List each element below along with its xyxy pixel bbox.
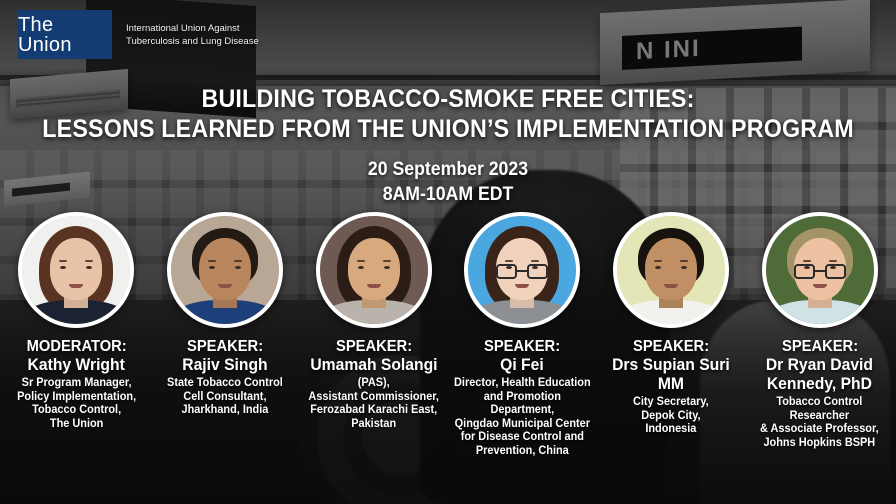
portrait-eye-right: [384, 266, 390, 269]
speaker-card: SPEAKER: Drs Supian Suri MM City Secreta…: [597, 212, 746, 458]
portrait-brow-right: [680, 260, 688, 262]
speaker-name: Drs Supian Suri MM: [612, 356, 730, 394]
speaker-name: Rajiv Singh: [182, 356, 267, 375]
speaker-role: SPEAKER:: [633, 338, 709, 356]
speaker-portrait: [762, 212, 878, 328]
portrait-photo: [320, 216, 428, 324]
portrait-brow-left: [208, 260, 216, 262]
event-time: 8AM-10AM EDT: [31, 182, 864, 207]
speaker-portrait: [464, 212, 580, 328]
speaker-portrait: [18, 212, 134, 328]
event-date: 20 September 2023: [31, 157, 864, 182]
speaker-name: Umamah Solangi: [310, 356, 437, 375]
speaker-affiliation: Tobacco Control Researcher & Associate P…: [749, 396, 890, 450]
speaker-name: Dr Ryan David Kennedy, PhD: [766, 356, 873, 394]
portrait-photo: [171, 216, 279, 324]
portrait-eye-right: [235, 266, 241, 269]
speaker-portrait: [167, 212, 283, 328]
portrait-face: [199, 238, 251, 300]
portrait-glasses: [496, 264, 548, 279]
speaker-role: SPEAKER:: [782, 338, 858, 356]
portrait-face: [348, 238, 400, 300]
speaker-card: SPEAKER: Rajiv Singh State Tobacco Contr…: [151, 212, 300, 458]
portrait-brow-right: [85, 260, 93, 262]
brand-logo: The Union International Union Against Tu…: [18, 10, 259, 59]
portrait-photo: [766, 216, 874, 324]
speaker-role: SPEAKER:: [484, 338, 560, 356]
speaker-role: SPEAKER:: [187, 338, 263, 356]
speaker-role: MODERATOR:: [26, 338, 126, 356]
portrait-mouth: [664, 284, 678, 288]
portrait-photo: [22, 216, 130, 324]
portrait-brow-left: [357, 260, 365, 262]
logo-box: The Union: [18, 10, 112, 59]
portrait-face: [50, 238, 102, 300]
speaker-role: SPEAKER:: [336, 338, 412, 356]
portrait-brow-right: [531, 260, 539, 262]
speaker-portrait: [613, 212, 729, 328]
speaker-affiliation: City Secretary, Depok City, Indonesia: [631, 396, 711, 437]
speaker-portrait: [316, 212, 432, 328]
portrait-mouth: [218, 284, 232, 288]
speaker-card: SPEAKER: Qi Fei Director, Health Educati…: [448, 212, 597, 458]
portrait-eye-left: [209, 266, 215, 269]
logo-tagline: International Union Against Tuberculosis…: [126, 23, 259, 49]
portrait-photo: [468, 216, 576, 324]
portrait-glasses: [794, 264, 846, 279]
speaker-name: Qi Fei: [501, 356, 545, 375]
portrait-eye-left: [60, 266, 66, 269]
portrait-eye-left: [358, 266, 364, 269]
portrait-brow-left: [803, 260, 811, 262]
portrait-mouth: [813, 284, 827, 288]
portrait-brow-right: [829, 260, 837, 262]
portrait-brow-left: [505, 260, 513, 262]
speaker-card: SPEAKER: Dr Ryan David Kennedy, PhD Toba…: [745, 212, 894, 458]
portrait-brow-right: [234, 260, 242, 262]
speaker-card: SPEAKER: Umamah Solangi (PAS), Assistant…: [299, 212, 448, 458]
portrait-face: [645, 238, 697, 300]
portrait-brow-right: [383, 260, 391, 262]
portrait-photo: [617, 216, 725, 324]
speaker-card: MODERATOR: Kathy Wright Sr Program Manag…: [2, 212, 151, 458]
portrait-brow-left: [654, 260, 662, 262]
portrait-eye-right: [86, 266, 92, 269]
portrait-mouth: [515, 284, 529, 288]
title-block: BUILDING TOBACCO-SMOKE FREE CITIES: LESS…: [0, 84, 896, 207]
speaker-affiliation: State Tobacco Control Cell Consultant, J…: [165, 377, 285, 418]
speaker-affiliation: Sr Program Manager, Policy Implementatio…: [15, 377, 138, 431]
portrait-mouth: [69, 284, 83, 288]
speaker-affiliation: Director, Health Education and Promotion…: [452, 377, 593, 458]
portrait-eye-right: [681, 266, 687, 269]
portrait-mouth: [367, 284, 381, 288]
title-line-2: LESSONS LEARNED FROM THE UNION’S IMPLEME…: [31, 114, 864, 144]
portrait-brow-left: [59, 260, 67, 262]
speaker-name: Kathy Wright: [28, 356, 125, 375]
webinar-promo-poster: N INI The Union International Union Agai…: [0, 0, 896, 504]
speaker-list: MODERATOR: Kathy Wright Sr Program Manag…: [0, 212, 896, 458]
speaker-affiliation: (PAS), Assistant Commissioner, Ferozabad…: [307, 377, 441, 431]
portrait-eye-left: [655, 266, 661, 269]
title-line-1: BUILDING TOBACCO-SMOKE FREE CITIES:: [31, 84, 864, 114]
